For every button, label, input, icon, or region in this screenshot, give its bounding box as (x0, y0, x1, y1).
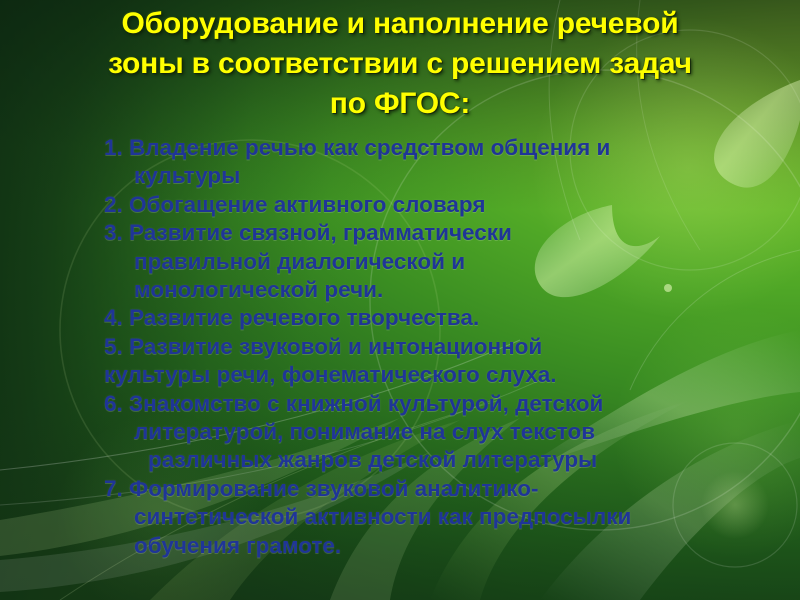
list-item-line: литературой, понимание на слух текстов (104, 418, 740, 446)
list-item: 4. Развитие речевого творчества. (104, 304, 740, 332)
list-item: 3. Развитие связной, грамматически прави… (104, 219, 740, 304)
list-item-line: 7. Формирование звуковой аналитико- (104, 475, 740, 503)
list-item: 7. Формирование звуковой аналитико- синт… (104, 475, 740, 560)
slide-title-line: Оборудование и наполнение речевой (36, 4, 764, 44)
slide-title: Оборудование и наполнение речевой зоны в… (36, 4, 764, 124)
list-item-line: различных жанров детской литературы (104, 446, 740, 474)
list-item-line: 3. Развитие связной, грамматически (104, 219, 740, 247)
list-item-line: 1. Владение речью как средством общения … (104, 134, 740, 162)
list-item-line: 2. Обогащение активного словаря (104, 191, 740, 219)
list-item-line: культуры (104, 162, 740, 190)
list-item-line: культуры речи, фонематического слуха. (104, 361, 740, 389)
slide-title-line: по ФГОС: (36, 84, 764, 124)
presentation-slide: Оборудование и наполнение речевой зоны в… (0, 0, 800, 600)
list-item: 2. Обогащение активного словаря (104, 191, 740, 219)
list-item-line: 4. Развитие речевого творчества. (104, 304, 740, 332)
list-item: 1. Владение речью как средством общения … (104, 134, 740, 191)
list-item-line: обучения грамоте. (104, 532, 740, 560)
list-item-line: 6. Знакомство с книжной культурой, детск… (104, 390, 740, 418)
list-item: 6. Знакомство с книжной культурой, детск… (104, 390, 740, 475)
list-item-line: монологической речи. (104, 276, 740, 304)
list-item: 5. Развитие звуковой и интонационной кул… (104, 333, 740, 390)
list-item-line: 5. Развитие звуковой и интонационной (104, 333, 740, 361)
list-item-line: правильной диалогической и (104, 248, 740, 276)
list-item-line: синтетической активности как предпосылки (104, 503, 740, 531)
slide-title-line: зоны в соответствии с решением задач (36, 44, 764, 84)
numbered-task-list: 1. Владение речью как средством общения … (104, 134, 740, 560)
